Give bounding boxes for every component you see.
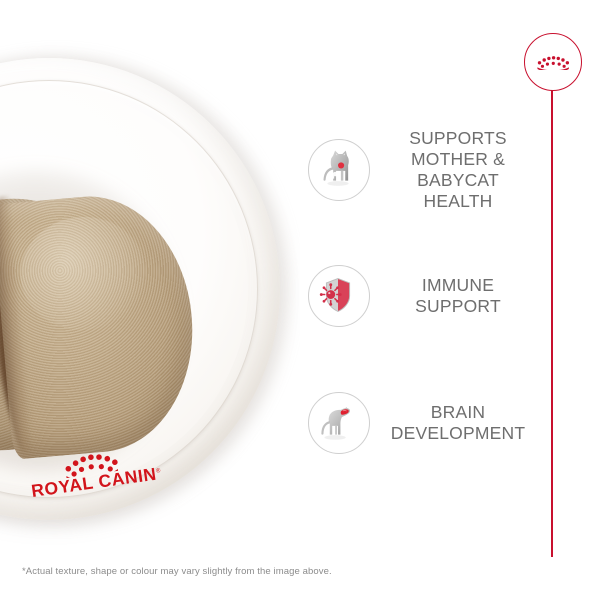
- product-photo: ROYAL CANIN®: [0, 0, 300, 600]
- cat-brain-icon: [308, 392, 370, 454]
- footnote-text: *Actual texture, shape or colour may var…: [22, 566, 332, 577]
- benefit-label-mother-babycat-health: SUPPORTS MOTHER & BABYCAT HEALTH: [370, 128, 540, 212]
- benefit-item-immune-support: IMMUNE SUPPORT: [300, 265, 540, 327]
- mother-cat-with-kitten-icon: [308, 139, 370, 201]
- shield-virus-icon: [308, 265, 370, 327]
- royal-canin-crown-icon: [536, 55, 570, 70]
- benefit-label-immune-support: IMMUNE SUPPORT: [370, 275, 540, 317]
- product-feature-banner: ROYAL CANIN®: [0, 0, 600, 600]
- royal-canin-crown-medallion: [524, 33, 582, 91]
- benefit-item-mother-babycat-health: SUPPORTS MOTHER & BABYCAT HEALTH: [300, 128, 540, 212]
- trademark-symbol: ®: [156, 468, 162, 475]
- brand-accent-rule: [551, 60, 553, 557]
- benefits-list: SUPPORTS MOTHER & BABYCAT HEALTH: [300, 0, 540, 600]
- benefit-label-brain-development: BRAIN DEVELOPMENT: [370, 402, 540, 444]
- benefit-item-brain-development: BRAIN DEVELOPMENT: [300, 392, 540, 454]
